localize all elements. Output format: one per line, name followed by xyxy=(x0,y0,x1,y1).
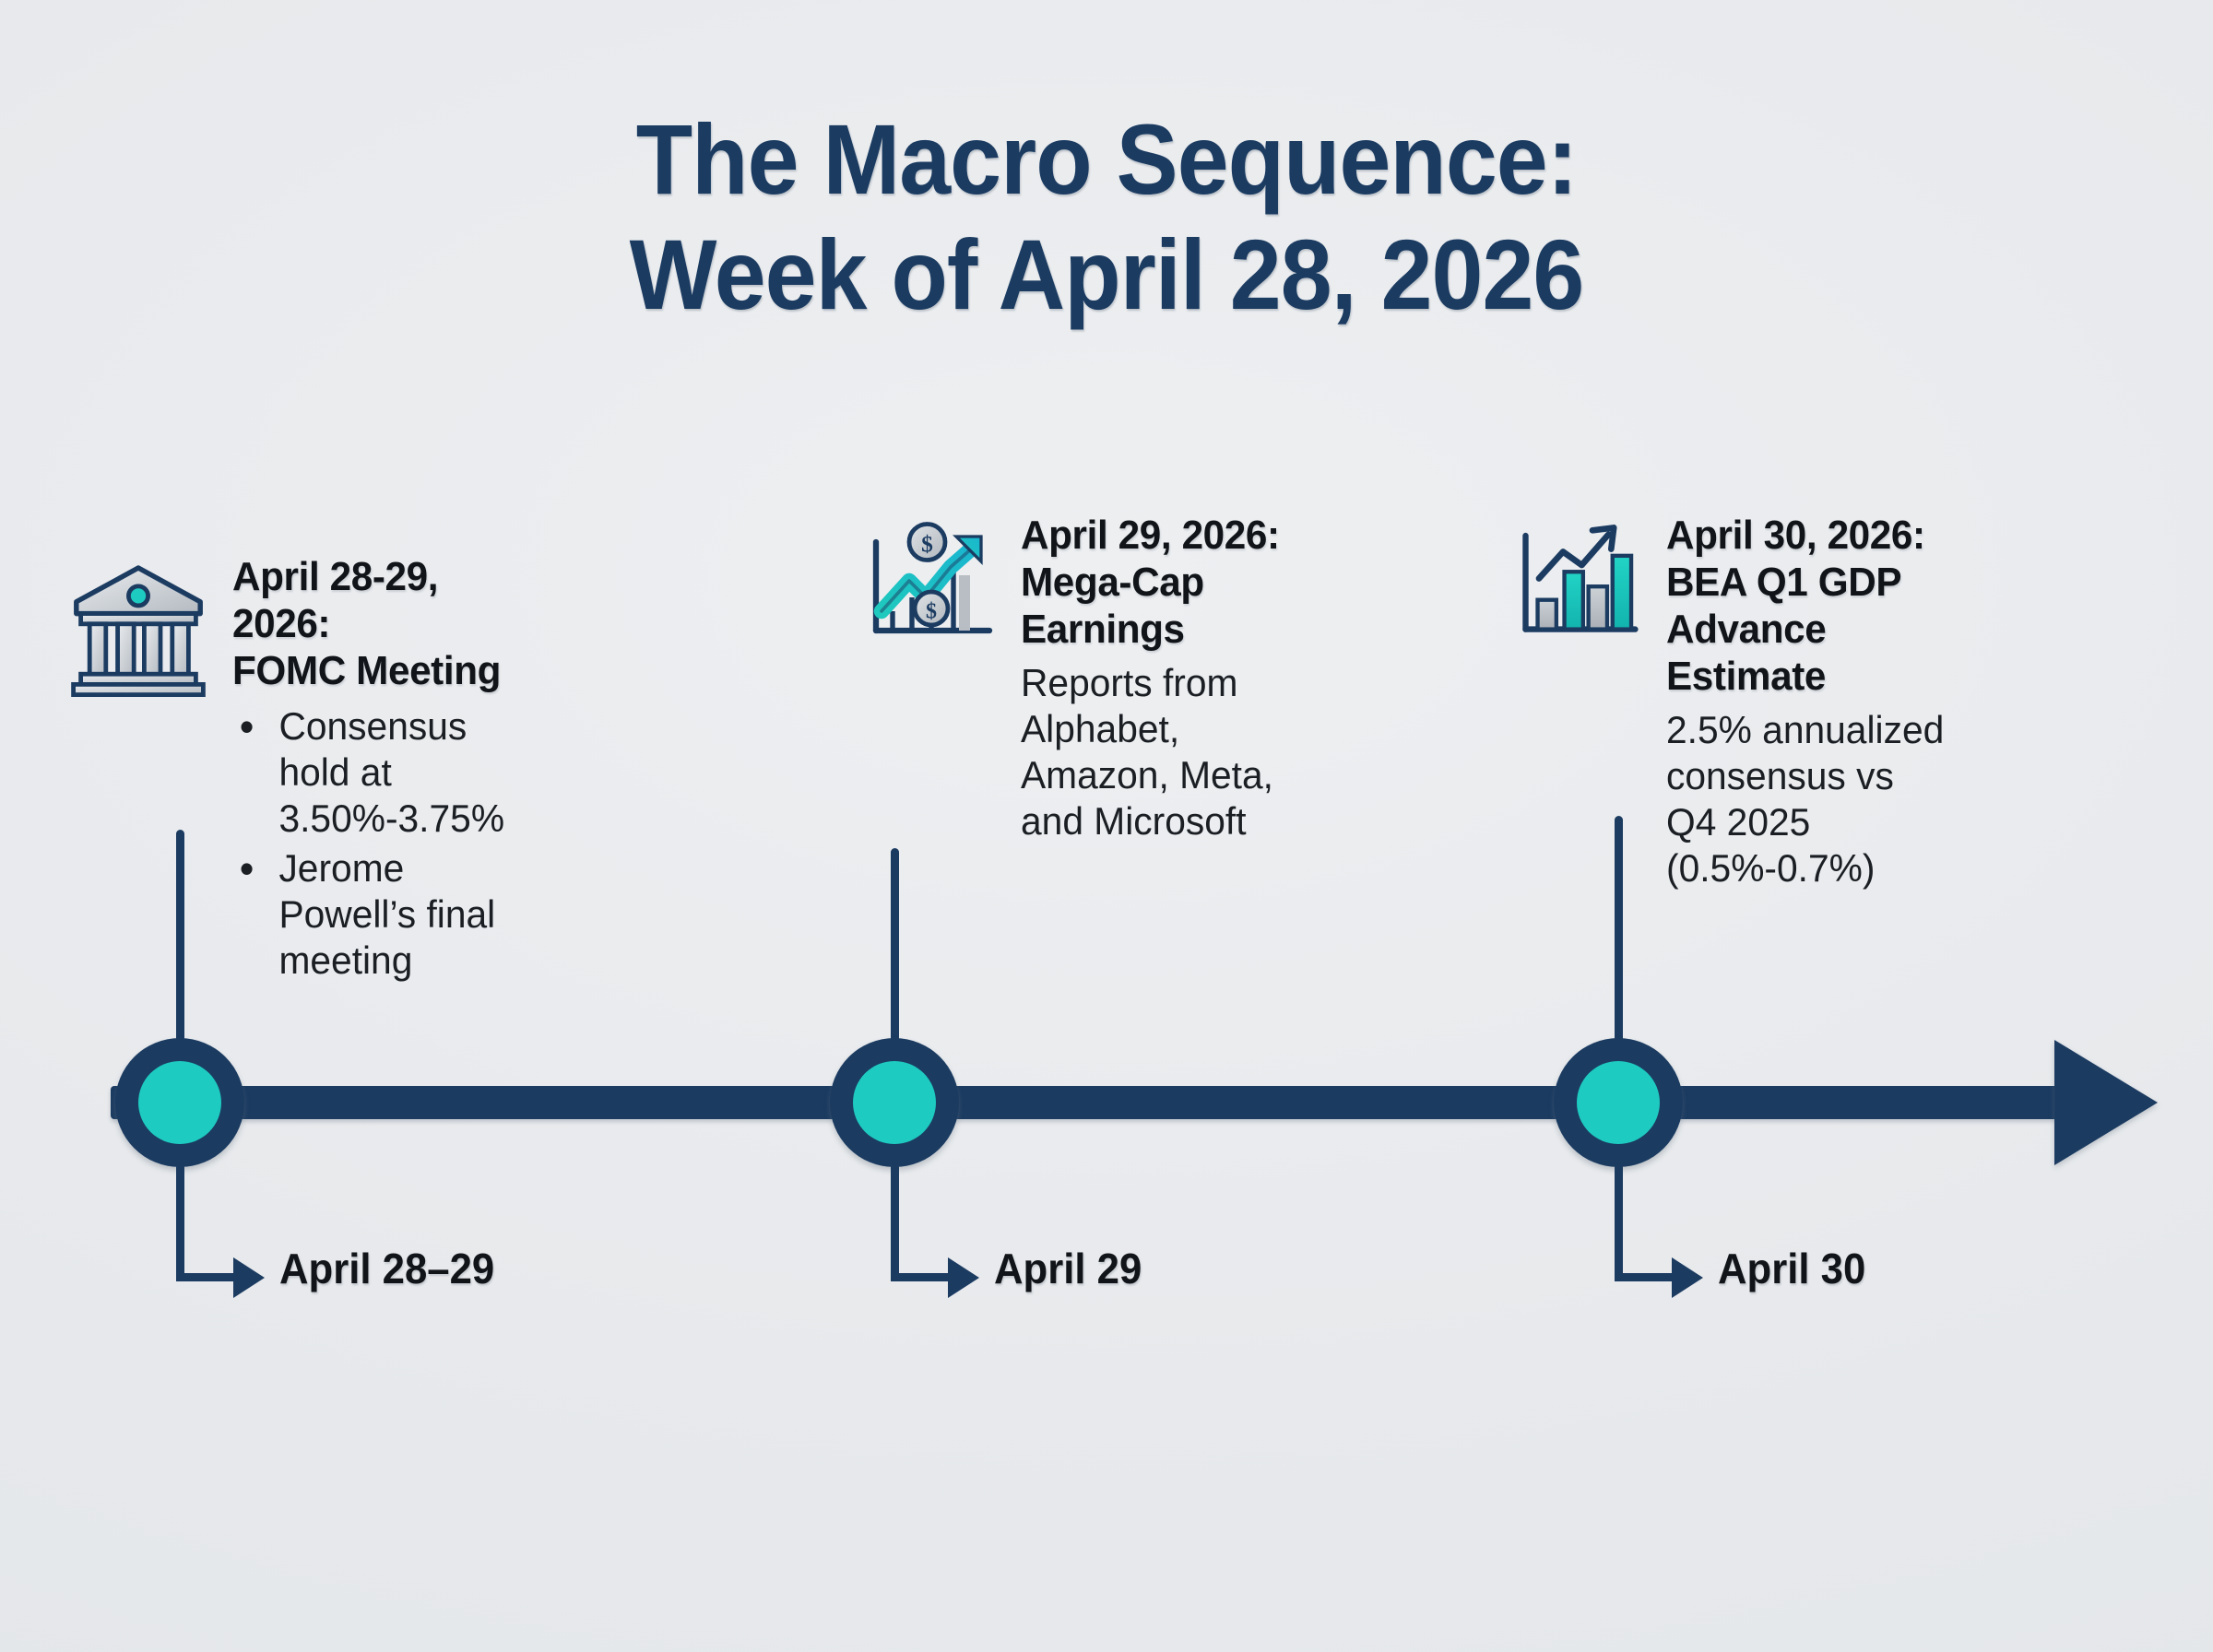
milestone-title-2-line-2: Mega-Cap xyxy=(1021,560,1204,605)
timeline-node-3[interactable] xyxy=(1554,1038,1683,1167)
date-callout-line-horizontal xyxy=(891,1273,953,1281)
growth-chart-icon: $ $ xyxy=(862,512,1000,650)
list-item: Jerome Powell’s final meeting xyxy=(232,845,537,984)
milestone-bullets-1: Consensus hold at 3.50%-3.75% Jerome Pow… xyxy=(232,703,546,984)
milestone-title-3-line-2: BEA Q1 GDP xyxy=(1666,560,1901,605)
page-title-line-1: The Macro Sequence: xyxy=(77,101,2136,217)
milestone-body-2: Reports from Alphabet, Amazon, Meta, and… xyxy=(1021,660,1294,844)
date-callout-line xyxy=(176,1163,184,1281)
milestone-date-label-3: April 30 xyxy=(1718,1244,1865,1293)
date-callout-arrow-icon xyxy=(1672,1257,1703,1298)
svg-text:$: $ xyxy=(921,531,933,558)
milestone-title-1-line-1: April 28-29, 2026: xyxy=(232,554,438,646)
date-callout-line-horizontal xyxy=(1615,1273,1677,1281)
date-callout-arrow-icon xyxy=(948,1257,979,1298)
date-callout-arrow-icon xyxy=(233,1257,265,1298)
date-callout-line xyxy=(891,1163,899,1281)
milestone-title-2-line-3: Earnings xyxy=(1021,607,1185,652)
milestone-title-3: April 30, 2026: BEA Q1 GDP Advance Estim… xyxy=(1666,512,1949,700)
milestone-title-3-line-3: Advance Estimate xyxy=(1666,607,1826,699)
milestone-title-2-line-1: April 29, 2026: xyxy=(1021,513,1280,558)
date-callout-line xyxy=(1615,1163,1623,1281)
milestone-title-1: April 28-29, 2026: FOMC Meeting xyxy=(232,553,533,694)
timeline-node-1[interactable] xyxy=(115,1038,244,1167)
milestone-title-3-line-1: April 30, 2026: xyxy=(1666,513,1925,558)
timeline-axis xyxy=(111,1086,2084,1119)
page-title-line-2: Week of April 28, 2026 xyxy=(77,217,2136,332)
list-item: Consensus hold at 3.50%-3.75% xyxy=(232,703,537,842)
milestone-body-3: 2.5% annualized consensus vs Q4 2025 (0.… xyxy=(1666,707,1952,891)
timeline-arrowhead-icon xyxy=(2054,1040,2158,1165)
milestone-content-3: April 30, 2026: BEA Q1 GDP Advance Estim… xyxy=(1512,512,1961,891)
svg-text:$: $ xyxy=(926,600,937,624)
milestone-title-2: April 29, 2026: Mega-Cap Earnings xyxy=(1021,512,1291,653)
milestone-date-label-2: April 29 xyxy=(994,1244,1142,1293)
milestone-title-1-line-2: FOMC Meeting xyxy=(232,648,501,693)
bar-chart-trend-icon xyxy=(1512,512,1646,645)
milestone-date-label-1: April 28–29 xyxy=(279,1244,494,1293)
milestone-content-1: April 28-29, 2026: FOMC Meeting Consensu… xyxy=(65,553,546,987)
page-title: The Macro Sequence: Week of April 28, 20… xyxy=(0,101,2213,333)
bank-icon xyxy=(65,553,212,701)
timeline-node-2[interactable] xyxy=(830,1038,959,1167)
date-callout-line-horizontal xyxy=(176,1273,239,1281)
milestone-connector-line xyxy=(891,848,899,1044)
milestone-content-2: $ $ April 29, 2026: Mega-Cap Earnings Re… xyxy=(862,512,1302,844)
